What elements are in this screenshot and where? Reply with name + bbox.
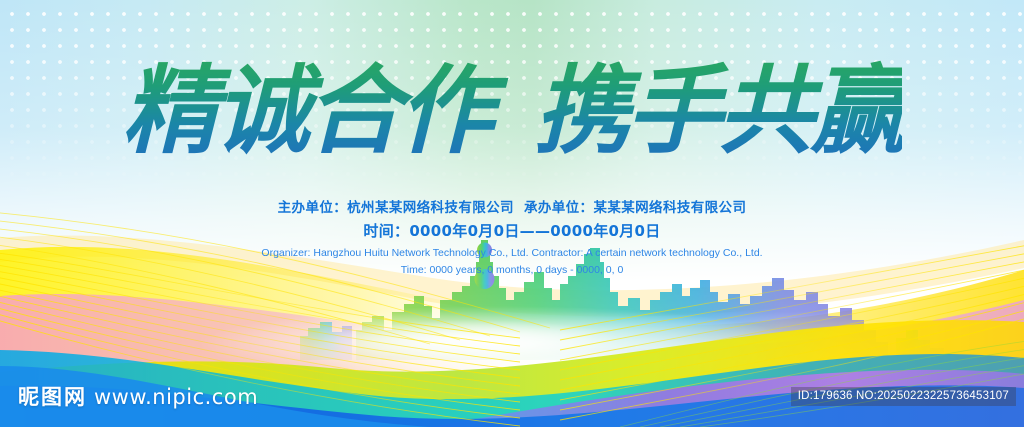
contractor-label: 承办单位： [524, 200, 594, 216]
organizer-line: 主办单位：杭州某某网络科技有限公司承办单位：某某某网络科技有限公司 [0, 196, 1024, 216]
organizer-label: 主办单位： [278, 200, 348, 216]
organizer-value: 杭州某某网络科技有限公司 [347, 200, 514, 216]
contractor-value: 某某某网络科技有限公司 [593, 200, 746, 216]
info-block: 主办单位：杭州某某网络科技有限公司承办单位：某某某网络科技有限公司 时间：000… [0, 196, 1024, 276]
poster-canvas: 精诚合作 携手共赢 主办单位：杭州某某网络科技有限公司承办单位：某某某网络科技有… [0, 0, 1024, 427]
organizer-line-en: Organizer: Hangzhou Huitu Network Techno… [0, 247, 1024, 259]
event-time-cn: 时间：0000年0月0日——0000年0月0日 [0, 220, 1024, 241]
watermark-id: ID:179636 NO:20250223225736453107 [791, 387, 1016, 406]
event-time-en: Time: 0000 years, 0 months, 0 days - 000… [0, 264, 1024, 276]
